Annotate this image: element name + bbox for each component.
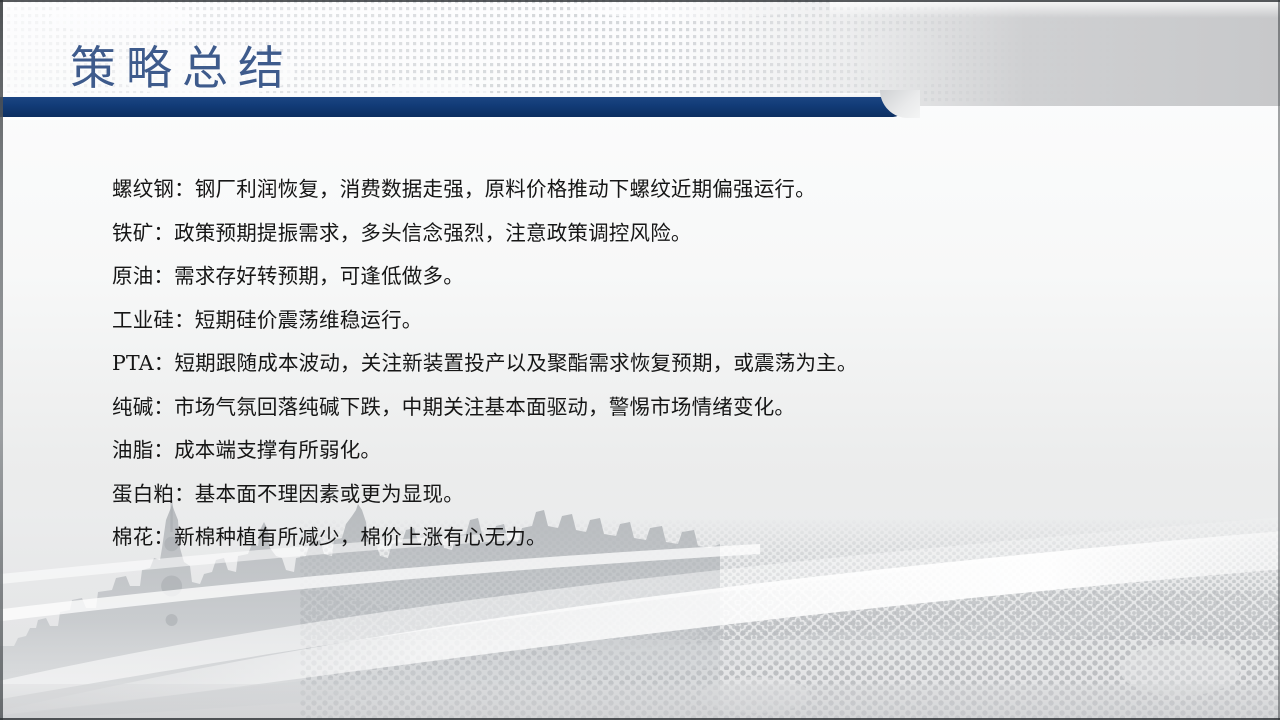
list-item: PTA：短期跟随成本波动，关注新装置投产以及聚酯需求恢复预期，或震荡为主。: [112, 342, 1212, 386]
page-title: 策略总结: [70, 32, 294, 98]
list-item: 螺纹钢：钢厂利润恢复，消费数据走强，原料价格推动下螺纹近期偏强运行。: [112, 168, 1212, 212]
list-item: 油脂：成本端支撑有所弱化。: [112, 429, 1212, 473]
left-edge-strip: [0, 0, 3, 720]
list-item: 蛋白粕：基本面不理因素或更为显现。: [112, 473, 1212, 517]
list-item: 铁矿：政策预期提振需求，多头信念强烈，注意政策调控风险。: [112, 212, 1212, 256]
list-item: 纯碱：市场气氛回落纯碱下跌，中期关注基本面驱动，警惕市场情绪变化。: [112, 386, 1212, 430]
strategy-summary-list: 螺纹钢：钢厂利润恢复，消费数据走强，原料价格推动下螺纹近期偏强运行。 铁矿：政策…: [112, 168, 1212, 560]
top-band-sheen: [830, 0, 1280, 18]
header-accent-bar: [0, 97, 907, 117]
top-edge-strip: [0, 0, 1280, 2]
slide-root: 策略总结 螺纹钢：钢厂利润恢复，消费数据走强，原料价格推动下螺纹近期偏强运行。 …: [0, 0, 1280, 720]
bottom-strip: [0, 684, 1280, 720]
list-item: 棉花：新棉种植有所减少，棉价上涨有心无力。: [112, 516, 1212, 560]
list-item: 原油：需求存好转预期，可逢低做多。: [112, 255, 1212, 299]
list-item: 工业硅：短期硅价震荡维稳运行。: [112, 299, 1212, 343]
